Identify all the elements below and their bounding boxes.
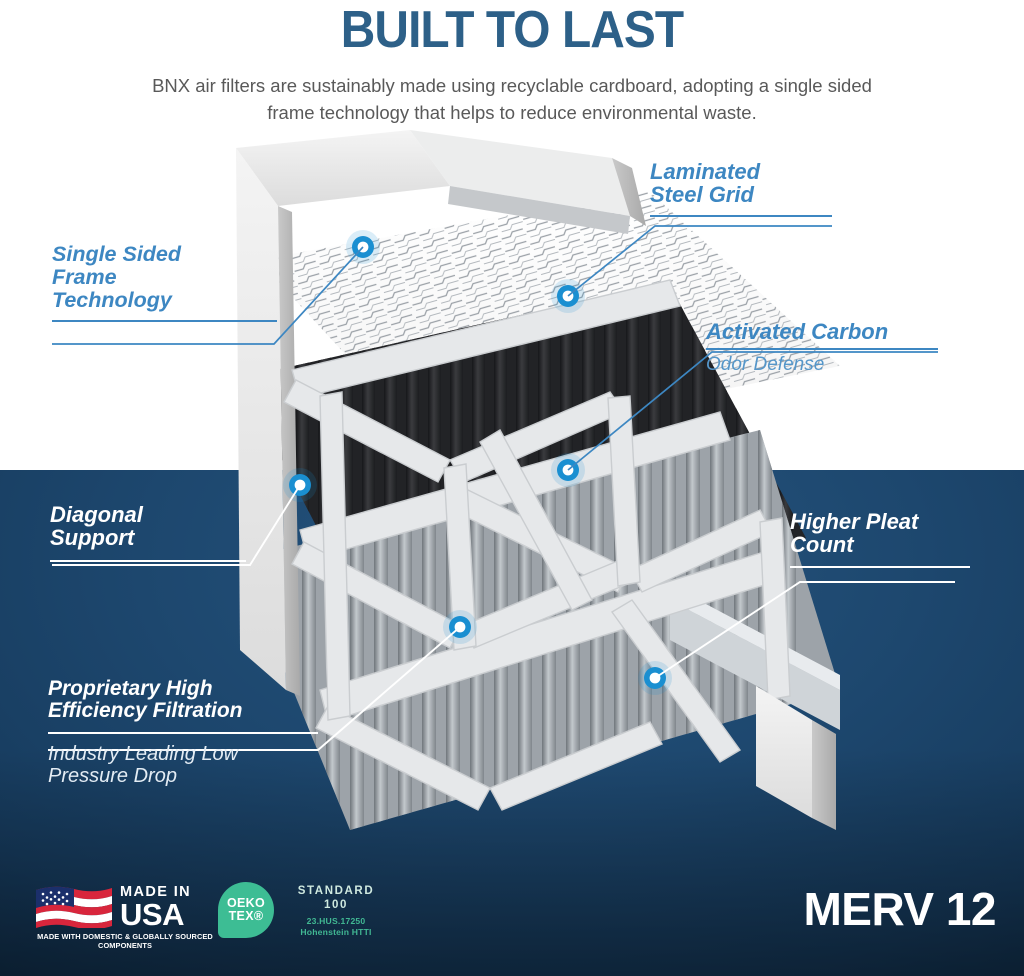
callout-label: Higher Pleat Count [790, 510, 1005, 557]
page-subtitle: BNX air filters are sustainably made usi… [132, 72, 892, 126]
callout-label: Activated Carbon [706, 320, 946, 343]
footer: MADE IN USA MADE WITH DOMESTIC & GLOBALL… [0, 876, 1024, 976]
merv-rating: MERV 12 [803, 880, 996, 938]
callout-sublabel: Odor Defense [706, 354, 946, 375]
usa-fine-print: MADE WITH DOMESTIC & GLOBALLY SOURCED CO… [34, 932, 216, 950]
callout-label: Diagonal Support [50, 503, 260, 550]
usa-label: USA [120, 898, 184, 931]
callout-rule [50, 560, 246, 562]
callout-sublabel: Industry Leading Low Pressure Drop [48, 743, 323, 788]
callout-rule [52, 320, 277, 322]
header: BUILT TO LAST BNX air filters are sustai… [0, 0, 1024, 126]
marker-higher-pleat-count[interactable] [638, 661, 672, 695]
callout-proprietary-high-efficiency-filtration: Proprietary High Efficiency Filtration I… [48, 678, 323, 787]
marker-diagonal-support[interactable] [283, 468, 317, 502]
callout-activated-carbon: Activated Carbon Odor Defense [706, 320, 946, 376]
callout-rule [48, 732, 318, 734]
made-in-usa-badge: MADE IN USA MADE WITH DOMESTIC & GLOBALL… [34, 882, 214, 944]
callout-rule [706, 348, 938, 350]
oeko-tex-mark-label: OEKO TEX® [218, 897, 274, 923]
marker-proprietary-filtration[interactable] [443, 610, 477, 644]
page-title: BUILT TO LAST [41, 0, 983, 58]
oeko-tex-mark-icon: OEKO TEX® [218, 882, 274, 938]
callout-higher-pleat-count: Higher Pleat Count [790, 510, 1005, 568]
infographic-canvas: BUILT TO LAST BNX air filters are sustai… [0, 0, 1024, 976]
oeko-certificate-number: 23.HUS.17250 Hohenstein HTTI [284, 916, 388, 938]
oeko-standard-label: STANDARD 100 [284, 884, 388, 912]
callout-rule [650, 215, 832, 217]
usa-flag-icon [34, 884, 114, 928]
callout-single-sided-frame-technology: Single Sided Frame Technology [52, 243, 277, 322]
callout-rule [790, 566, 970, 568]
callout-label: Proprietary High Efficiency Filtration [48, 678, 323, 723]
oeko-tex-badge: OEKO TEX® STANDARD 100 23.HUS.17250 Hohe… [218, 880, 388, 942]
callout-diagonal-support: Diagonal Support [50, 503, 260, 562]
callout-laminated-steel-grid: Laminated Steel Grid [650, 160, 850, 217]
marker-single-sided-frame[interactable] [346, 230, 380, 264]
callout-label: Laminated Steel Grid [650, 160, 850, 207]
marker-activated-carbon[interactable] [551, 453, 585, 487]
marker-laminated-steel-grid[interactable] [551, 279, 585, 313]
callout-label: Single Sided Frame Technology [52, 243, 277, 311]
